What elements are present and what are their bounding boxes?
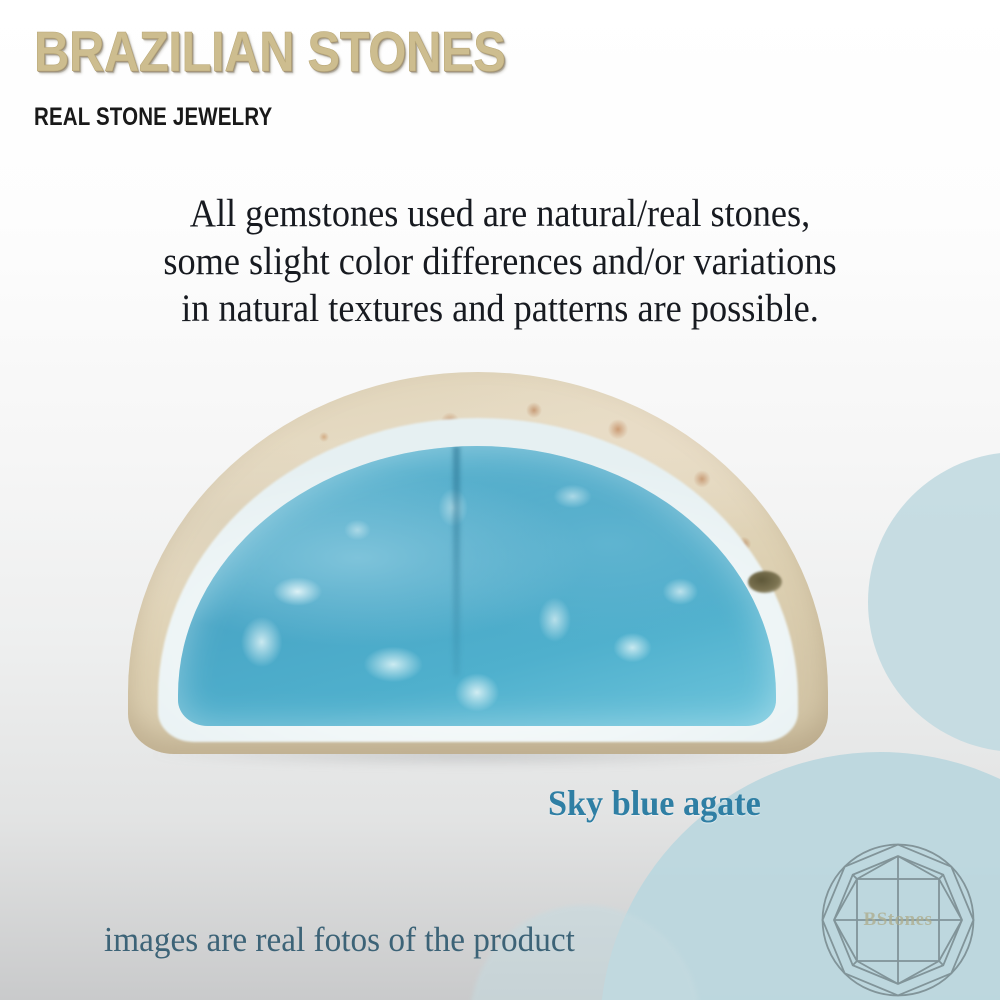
watermark-logo: BStones xyxy=(816,838,980,1000)
stone-crystal-shards xyxy=(178,446,776,726)
disclaimer-text: All gemstones used are natural/real ston… xyxy=(91,190,909,333)
product-photo-sky-blue-agate xyxy=(128,372,828,754)
brand-subtitle: REAL STONE JEWELRY xyxy=(34,103,608,132)
disclaimer-line-3: in natural textures and patterns are pos… xyxy=(91,285,909,333)
disclaimer-line-2: some slight color differences and/or var… xyxy=(91,238,909,286)
watermark-label: BStones xyxy=(816,909,980,931)
stone-center-seam xyxy=(453,446,460,676)
product-caption: Sky blue agate xyxy=(548,782,761,824)
footer-note: images are real fotos of the product xyxy=(104,920,575,960)
brand-title: BRAZILIAN STONES xyxy=(34,24,636,81)
poster-canvas: BRAZILIAN STONES REAL STONE JEWELRY All … xyxy=(0,0,1000,1000)
brand-header: BRAZILIAN STONES REAL STONE JEWELRY xyxy=(34,24,734,132)
decorative-circle-right xyxy=(868,452,1000,752)
disclaimer-line-1: All gemstones used are natural/real ston… xyxy=(91,190,909,238)
stone-blue-core-layer xyxy=(178,446,776,726)
stone-dark-pocket xyxy=(748,571,782,593)
